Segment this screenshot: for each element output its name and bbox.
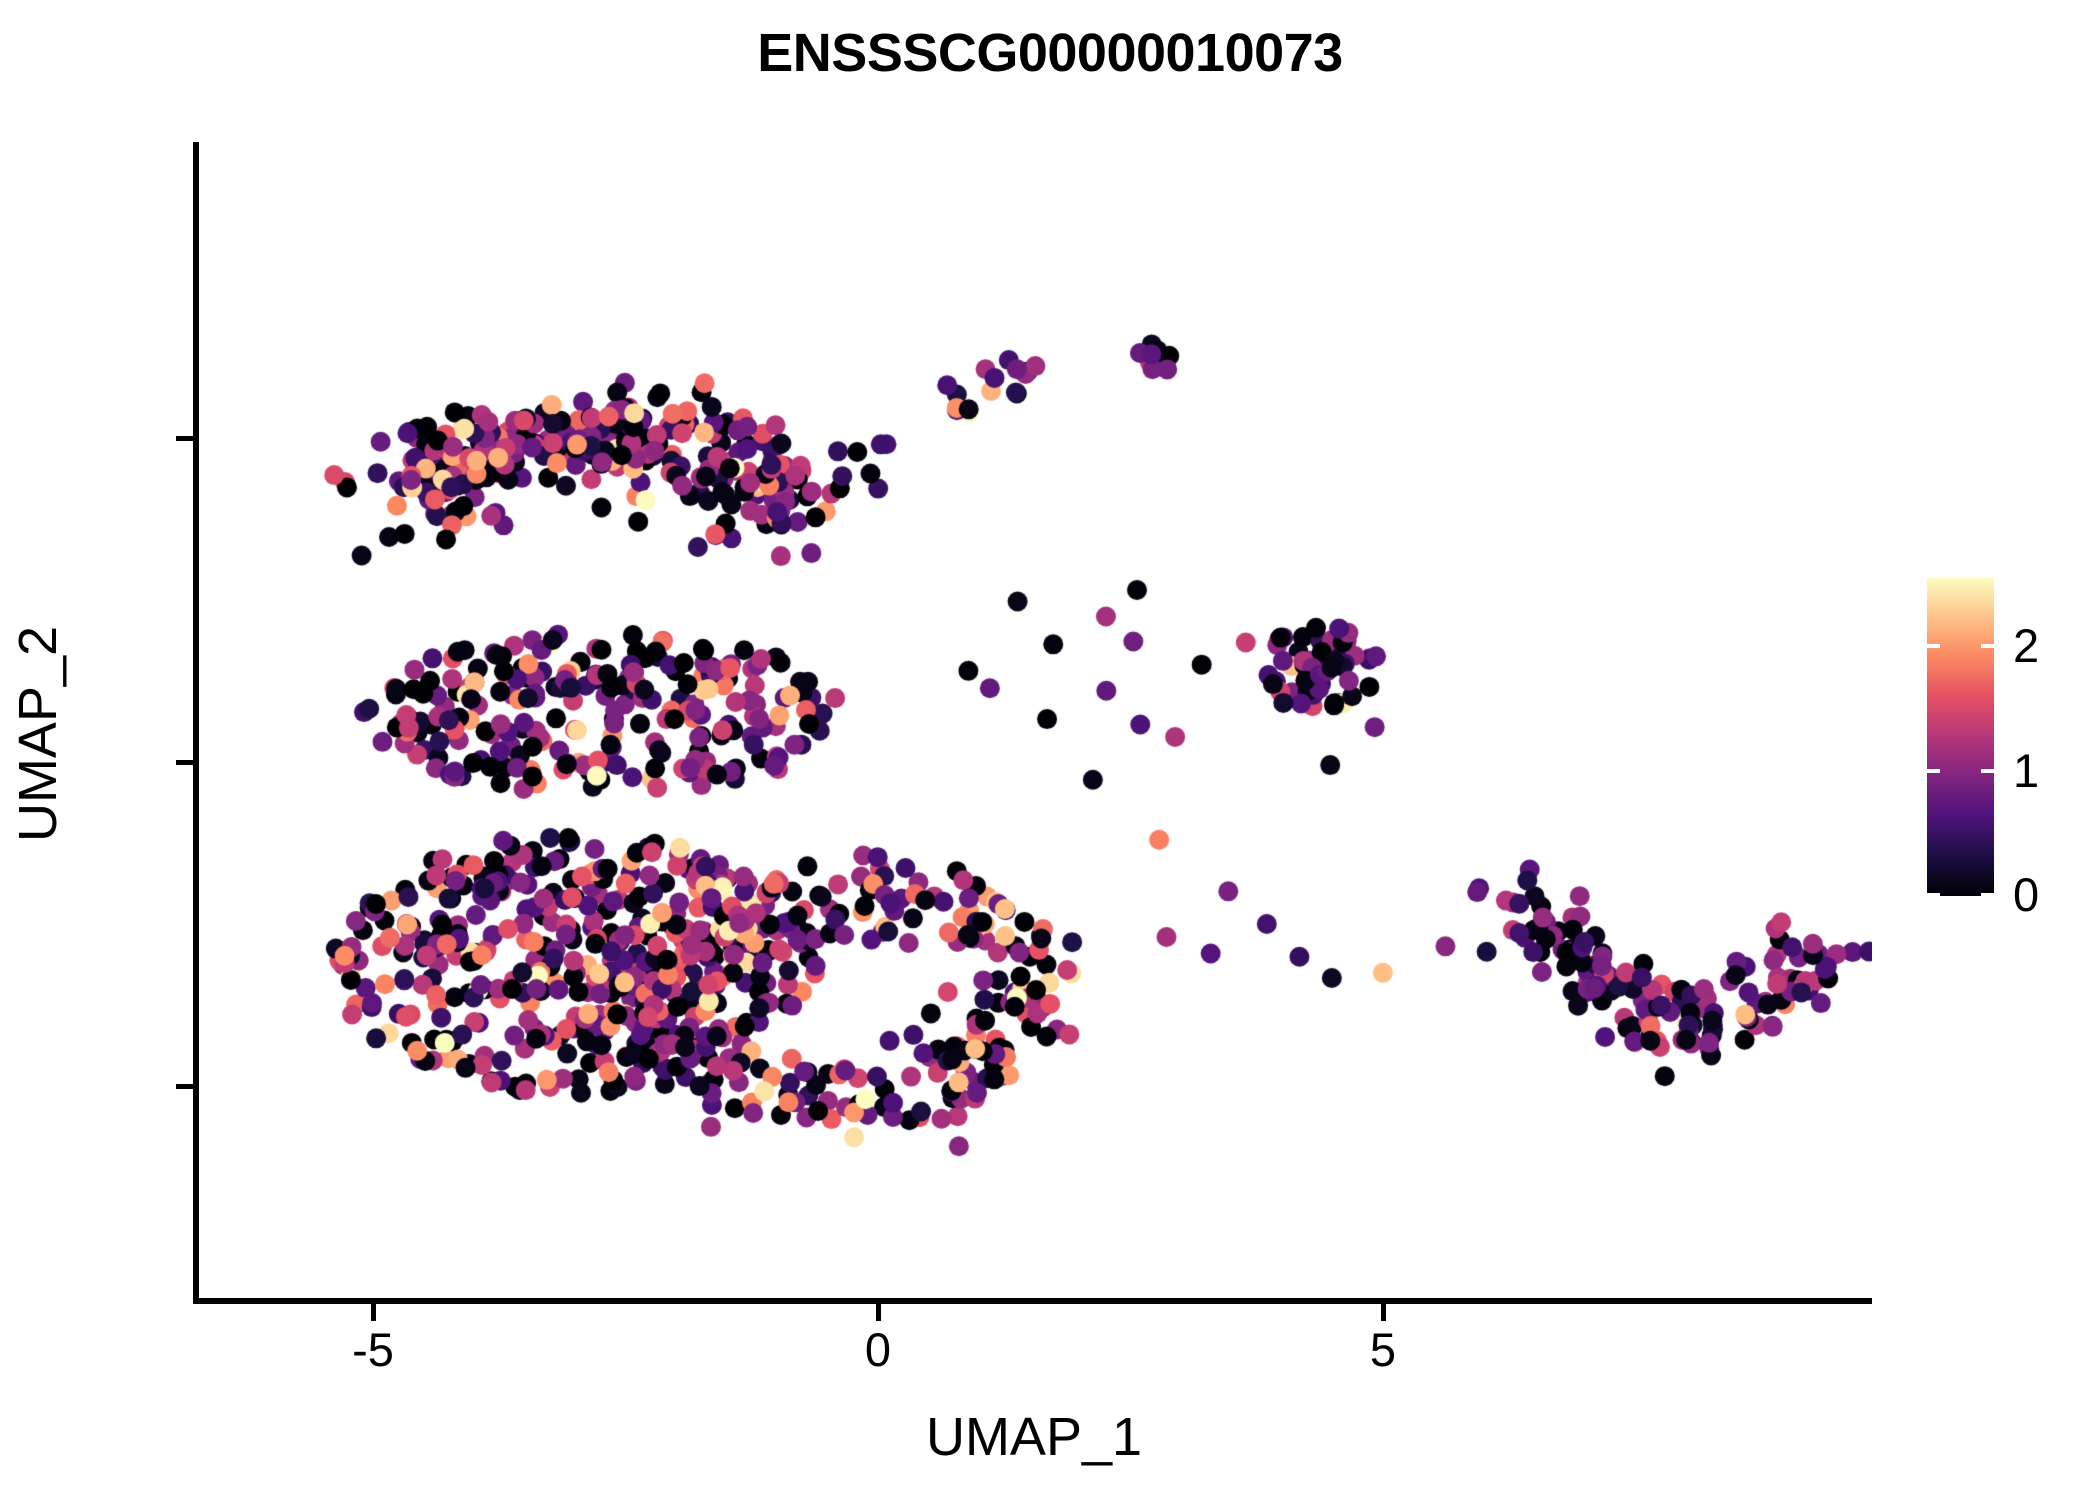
legend-tick-mark [1927,644,1940,648]
y-tick-mark [176,760,193,765]
scatter-points-layer [196,142,1872,1302]
legend-tick-mark [1927,769,1940,773]
x-axis-title: UMAP_1 [196,1406,1872,1468]
legend-tick-label: 2 [2013,622,2083,669]
x-axis-line [193,1298,1872,1304]
legend-tick-mark [1927,893,1940,897]
y-tick-mark [176,1084,193,1089]
y-axis-line [193,142,199,1304]
plot-panel [196,142,1872,1302]
x-tick-mark [876,1304,881,1321]
x-tick-mark [371,1304,376,1321]
page-title: ENSSSCG00000010073 [0,22,2100,84]
x-tick-label: 5 [1283,1326,1483,1373]
legend-tick-label: 0 [2013,871,2083,918]
x-tick-mark [1381,1304,1386,1321]
legend-colorbar [1927,578,1994,896]
y-axis-title: UMAP_2 [7,154,69,1314]
chart-page: ENSSSCG00000010073 40-4 -505 UMAP_1 UMAP… [0,0,2100,1500]
legend-tick-mark [1981,893,1994,897]
x-tick-label: 0 [778,1326,978,1373]
legend-tick-mark [1981,644,1994,648]
y-tick-mark [176,436,193,441]
x-tick-label: -5 [273,1326,473,1373]
legend-tick-label: 1 [2013,747,2083,794]
color-legend: 210 [1927,578,2087,898]
legend-tick-mark [1981,769,1994,773]
